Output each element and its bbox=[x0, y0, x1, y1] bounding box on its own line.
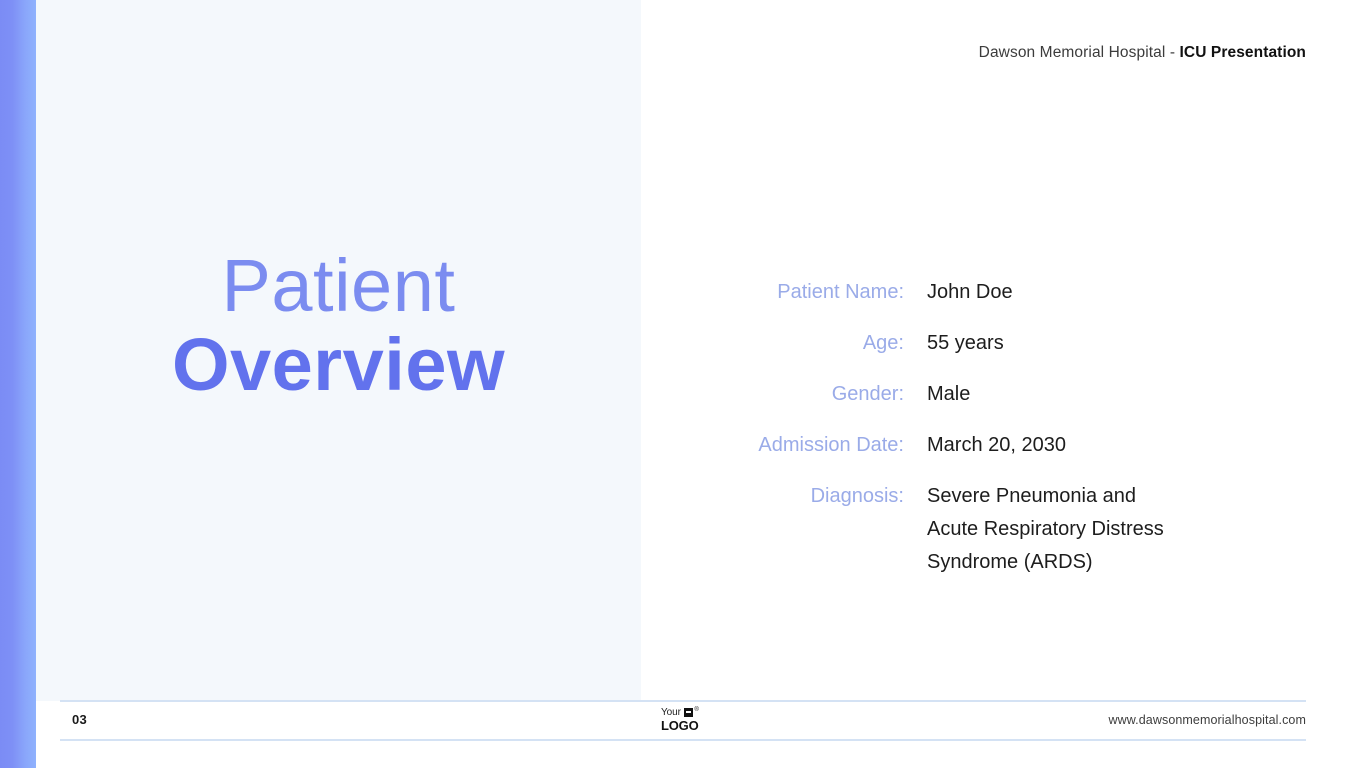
page-title-line-1: Patient bbox=[36, 248, 641, 323]
header-document-title: ICU Presentation bbox=[1180, 44, 1307, 61]
detail-row: Gender: Male bbox=[700, 378, 1300, 411]
detail-label-gender: Gender: bbox=[700, 378, 927, 411]
patient-details-list: Patient Name: John Doe Age: 55 years Gen… bbox=[700, 276, 1300, 579]
footer-rule-bottom bbox=[60, 739, 1306, 741]
detail-value-line: Syndrome (ARDS) bbox=[927, 546, 1164, 579]
header-separator: - bbox=[1165, 44, 1179, 61]
detail-value-line: Male bbox=[927, 378, 970, 411]
detail-value-gender: Male bbox=[927, 378, 970, 411]
detail-label-age: Age: bbox=[700, 327, 927, 360]
left-gradient-stripe bbox=[0, 0, 36, 768]
detail-value-diagnosis: Severe Pneumonia and Acute Respiratory D… bbox=[927, 480, 1164, 579]
footer-website-url: www.dawsonmemorialhospital.com bbox=[1108, 713, 1306, 727]
detail-label-patient-name: Patient Name: bbox=[700, 276, 927, 309]
logo-square-mark-icon bbox=[684, 708, 693, 717]
detail-value-line: Acute Respiratory Distress bbox=[927, 513, 1164, 546]
detail-row: Admission Date: March 20, 2030 bbox=[700, 429, 1300, 462]
logo-word-text: LOGO bbox=[661, 719, 721, 732]
header-brand: Dawson Memorial Hospital bbox=[979, 44, 1166, 61]
detail-value-line: Severe Pneumonia and bbox=[927, 480, 1164, 513]
detail-label-admission-date: Admission Date: bbox=[700, 429, 927, 462]
detail-row: Diagnosis: Severe Pneumonia and Acute Re… bbox=[700, 480, 1300, 579]
slide-header: Dawson Memorial Hospital - ICU Presentat… bbox=[979, 44, 1306, 62]
page-title: Patient Overview bbox=[36, 248, 641, 403]
detail-row: Patient Name: John Doe bbox=[700, 276, 1300, 309]
slide: Dawson Memorial Hospital - ICU Presentat… bbox=[0, 0, 1366, 768]
detail-value-admission-date: March 20, 2030 bbox=[927, 429, 1066, 462]
detail-row: Age: 55 years bbox=[700, 327, 1300, 360]
detail-value-age: 55 years bbox=[927, 327, 1004, 360]
logo-your-text: Your bbox=[661, 708, 681, 718]
detail-value-line: March 20, 2030 bbox=[927, 429, 1066, 462]
registered-trademark-icon: ® bbox=[694, 707, 698, 713]
logo-top-row: Your ® bbox=[661, 707, 721, 718]
page-title-line-2: Overview bbox=[36, 327, 641, 402]
detail-value-line: John Doe bbox=[927, 276, 1013, 309]
detail-value-patient-name: John Doe bbox=[927, 276, 1013, 309]
detail-label-diagnosis: Diagnosis: bbox=[700, 480, 927, 513]
page-number: 03 bbox=[72, 712, 87, 727]
footer-logo: Your ® LOGO bbox=[661, 707, 721, 732]
footer-rule-top bbox=[60, 700, 1306, 702]
detail-value-line: 55 years bbox=[927, 327, 1004, 360]
